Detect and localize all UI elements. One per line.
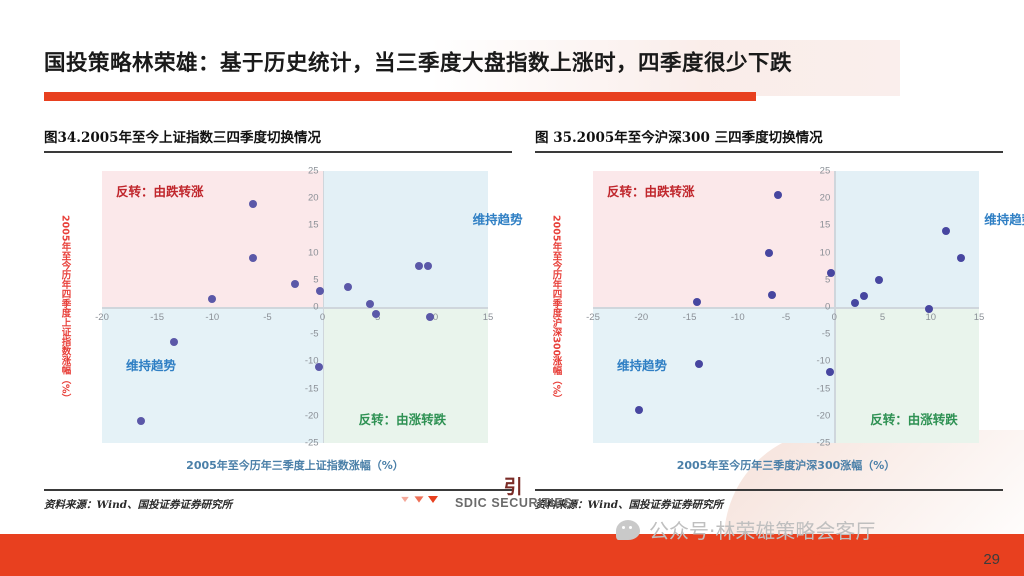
data-point — [426, 313, 434, 321]
x-tick-label: -20 — [95, 312, 109, 323]
quadrant-label-top-left: 反转：由跌转涨 — [116, 181, 204, 200]
quadrant-bl — [102, 307, 323, 443]
y-tick-label: 10 — [808, 247, 830, 258]
x-tick-label: -15 — [150, 312, 164, 323]
y-tick-label: 20 — [808, 193, 830, 204]
data-point — [774, 191, 782, 199]
data-point — [695, 360, 703, 368]
x-axis-title-left: 2005年至今历年三季度上证指数涨幅（%） — [102, 457, 488, 473]
x-tick-label: 15 — [483, 312, 494, 323]
y-tick-label: 25 — [297, 166, 319, 177]
watermark-text: 公众号·林荣雄策略会客厅 — [649, 515, 875, 544]
quadrant-bl — [593, 307, 834, 443]
x-axis-line — [102, 307, 488, 309]
data-point — [137, 417, 145, 425]
sdic-logo: 引 SDIC SECURITIES — [455, 478, 572, 510]
y-tick-label: -20 — [297, 410, 319, 421]
scatter-chart-left: 2005年至今历年四季度上证指数涨幅（%） -20-15-10-50510152… — [44, 157, 512, 487]
data-point — [826, 368, 834, 376]
headline-container: 国投策略林荣雄：基于历史统计，当三季度大盘指数上涨时，四季度很少下跌 — [44, 46, 994, 77]
plot-area-left: -20-15-10-50510152520151050-5-10-15-20-2… — [102, 171, 488, 443]
data-point — [860, 292, 868, 300]
y-tick-label: -25 — [808, 438, 830, 449]
data-point — [291, 280, 299, 288]
data-point — [208, 295, 216, 303]
x-tick-label: -10 — [731, 312, 745, 323]
x-tick-label: -5 — [782, 312, 790, 323]
figure-title-left: 图34.2005年至今上证指数三四季度切换情况 — [44, 126, 512, 151]
quadrant-label-top-left: 反转：由跌转涨 — [607, 181, 695, 200]
y-tick-label: -15 — [297, 383, 319, 394]
source-note-left: 资料来源：Wind、国投证券证券研究所 — [44, 491, 512, 512]
quadrant-label-bottom-left: 维持趋势 — [126, 355, 176, 374]
y-axis-title-left: 2005年至今历年四季度上证指数涨幅（%） — [52, 175, 78, 443]
x-axis-title-right: 2005年至今历年三季度沪深300涨幅（%） — [593, 457, 979, 473]
data-point — [957, 254, 965, 262]
x-tick-label: -20 — [634, 312, 648, 323]
y-tick-label: -25 — [297, 438, 319, 449]
scatter-chart-right: 2005年至今历年四季度沪深300涨幅（%） -25-20-15-10-5051… — [535, 157, 1003, 487]
data-point — [372, 310, 380, 318]
data-point — [315, 363, 323, 371]
data-point — [316, 287, 324, 295]
figure-title-right: 图 35.2005年至今沪深300 三四季度切换情况 — [535, 126, 1003, 151]
data-point — [827, 269, 835, 277]
page-title: 国投策略林荣雄：基于历史统计，当三季度大盘指数上涨时，四季度很少下跌 — [44, 46, 994, 77]
quadrant-label-top-right: 维持趋势 — [984, 209, 1024, 228]
data-point — [249, 254, 257, 262]
x-tick-label: -10 — [205, 312, 219, 323]
y-tick-label: 5 — [808, 274, 830, 285]
x-axis-line — [593, 307, 979, 309]
y-tick-label: 15 — [808, 220, 830, 231]
headline-underline-bar — [44, 92, 756, 101]
data-point — [875, 276, 883, 284]
watermark: 公众号·林荣雄策略会客厅 — [616, 515, 875, 544]
plot-area-right: -25-20-15-10-50510152520151050-5-10-15-2… — [593, 171, 979, 443]
data-point — [366, 300, 374, 308]
x-tick-label: -5 — [263, 312, 271, 323]
chevron-down-icon — [401, 497, 409, 502]
quadrant-label-bottom-right: 反转：由涨转跌 — [359, 409, 447, 428]
y-tick-label: -5 — [808, 329, 830, 340]
y-tick-label: -15 — [808, 383, 830, 394]
y-tick-label: 15 — [297, 220, 319, 231]
y-tick-label: 5 — [297, 274, 319, 285]
x-tick-label: 15 — [974, 312, 985, 323]
data-point — [635, 406, 643, 414]
x-tick-label: 0 — [832, 312, 837, 323]
figure-title-rule-left — [44, 151, 512, 153]
quadrant-tr — [834, 171, 979, 307]
wechat-icon — [616, 520, 640, 540]
data-point — [942, 227, 950, 235]
source-note-right: 资料来源：Wind、国投证券证券研究所 — [535, 491, 1003, 512]
data-point — [344, 283, 352, 291]
chevron-decoration-icons — [400, 496, 438, 503]
data-point — [415, 262, 423, 270]
data-point — [851, 299, 859, 307]
chart-panel-left: 图34.2005年至今上证指数三四季度切换情况 2005年至今历年四季度上证指数… — [44, 126, 512, 512]
x-tick-label: -15 — [683, 312, 697, 323]
sdic-logo-mark: 引 — [455, 478, 572, 496]
page-number: 29 — [983, 551, 1000, 568]
y-tick-label: -10 — [808, 356, 830, 367]
data-point — [424, 262, 432, 270]
data-point — [249, 200, 257, 208]
data-point — [765, 249, 773, 257]
quadrant-label-bottom-left: 维持趋势 — [617, 355, 667, 374]
quadrant-label-top-right: 维持趋势 — [473, 209, 523, 228]
x-tick-label: 5 — [880, 312, 885, 323]
sdic-logo-name: SDIC SECURITIES — [455, 496, 572, 510]
y-tick-label: -5 — [297, 329, 319, 340]
data-point — [170, 338, 178, 346]
data-point — [768, 291, 776, 299]
data-point — [693, 298, 701, 306]
y-tick-label: 20 — [297, 193, 319, 204]
x-tick-label: 0 — [320, 312, 325, 323]
y-tick-label: 0 — [297, 302, 319, 313]
x-tick-label: 10 — [925, 312, 936, 323]
y-tick-label: -20 — [808, 410, 830, 421]
y-tick-label: 10 — [297, 247, 319, 258]
y-tick-label: 25 — [808, 166, 830, 177]
figure-title-rule-right — [535, 151, 1003, 153]
footer-source-note: 数据来源：Wind，国投证券证券研究所 — [78, 11, 284, 27]
chevron-down-icon — [415, 496, 424, 502]
x-tick-label: -25 — [586, 312, 600, 323]
quadrant-label-bottom-right: 反转：由涨转跌 — [870, 409, 958, 428]
data-point — [925, 305, 933, 313]
y-tick-label: 0 — [808, 302, 830, 313]
y-axis-title-right: 2005年至今历年四季度沪深300涨幅（%） — [543, 175, 569, 443]
chart-panel-right: 图 35.2005年至今沪深300 三四季度切换情况 2005年至今历年四季度沪… — [535, 126, 1003, 512]
chevron-down-icon — [428, 496, 438, 503]
